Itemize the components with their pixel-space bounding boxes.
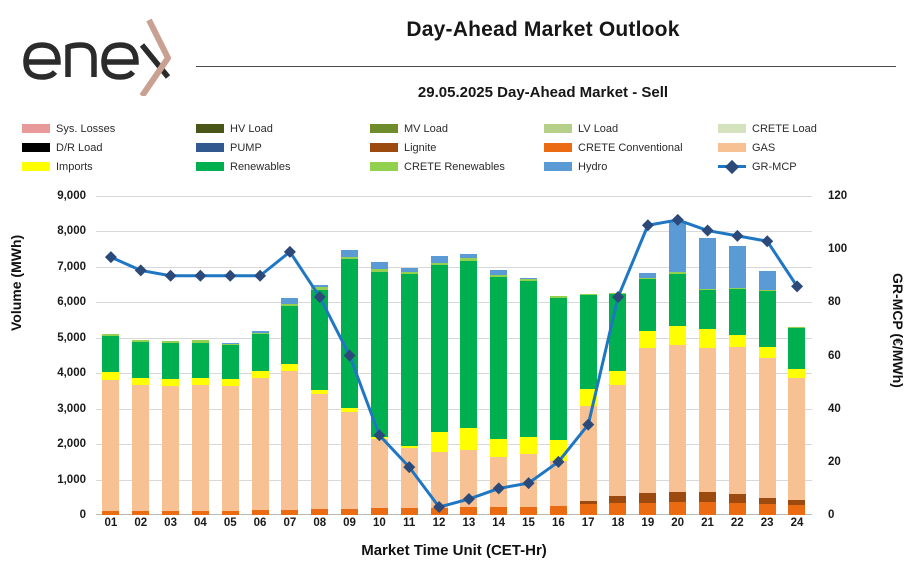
bar-segment (162, 343, 179, 379)
bar-segment (699, 348, 716, 492)
bar-segment (341, 509, 358, 515)
x-axis-label: Market Time Unit (CET-Hr) (96, 542, 812, 559)
stacked-bar (490, 270, 507, 515)
y-tick-left: 1,000 (30, 474, 92, 486)
bar-segment (490, 457, 507, 507)
bar-segment (699, 502, 716, 515)
bar-segment (669, 502, 686, 515)
bar-segment (431, 265, 448, 432)
bar-column-20[interactable] (663, 196, 693, 515)
chart-legend: Sys. LossesHV LoadMV LoadLV LoadCRETE Lo… (22, 119, 892, 177)
legend-swatch-dr_load (22, 143, 50, 152)
bar-segment (669, 492, 686, 502)
stacked-bar (311, 285, 328, 515)
stacked-bar (788, 327, 805, 515)
y-axis-label-left: Volume (MWh) (6, 198, 26, 368)
bar-column-07[interactable] (275, 196, 305, 515)
bar-column-01[interactable] (96, 196, 126, 515)
y-tick-left: 8,000 (30, 225, 92, 237)
legend-label-pump: PUMP (230, 142, 262, 154)
bar-segment (788, 328, 805, 369)
legend-label-hydro: Hydro (578, 161, 607, 173)
y-tick-left: 0 (30, 509, 92, 521)
legend-item-crete_load[interactable]: CRETE Load (718, 123, 892, 135)
bar-segment (759, 347, 776, 358)
bar-segment (222, 511, 239, 515)
x-tick-08: 08 (305, 517, 335, 537)
y-axis-label-right: GR-MCP (€/MWh) (888, 240, 908, 420)
legend-item-gas[interactable]: GAS (718, 142, 892, 154)
bar-segment (699, 238, 716, 289)
x-tick-20: 20 (663, 517, 693, 537)
legend-label-mv_load: MV Load (404, 123, 448, 135)
x-tick-18: 18 (603, 517, 633, 537)
legend-label-renewables: Renewables (230, 161, 291, 173)
bar-segment (252, 378, 269, 510)
legend-label-lv_load: LV Load (578, 123, 618, 135)
bar-segment (431, 432, 448, 452)
legend-label-sys_losses: Sys. Losses (56, 123, 115, 135)
legend-swatch-lignite (370, 143, 398, 152)
bar-column-11[interactable] (394, 196, 424, 515)
y-tick-left: 4,000 (30, 367, 92, 379)
bar-segment (669, 222, 686, 272)
y-tick-left: 9,000 (30, 190, 92, 202)
bar-segment (341, 412, 358, 508)
legend-swatch-lv_load (544, 124, 572, 133)
legend-label-crete_load: CRETE Load (752, 123, 817, 135)
bar-column-16[interactable] (543, 196, 573, 515)
stacked-bar (102, 334, 119, 515)
bar-segment (550, 506, 567, 515)
stacked-bar (669, 222, 686, 515)
y-tick-left: 6,000 (30, 296, 92, 308)
legend-item-gr_mcp[interactable]: GR-MCP (718, 161, 892, 173)
legend-swatch-gas (718, 143, 746, 152)
stacked-bar (580, 294, 597, 515)
bar-column-04[interactable] (185, 196, 215, 515)
legend-label-dr_load: D/R Load (56, 142, 102, 154)
bar-segment (759, 291, 776, 347)
legend-label-crete_conventional: CRETE Conventional (578, 142, 683, 154)
bar-segment (281, 364, 298, 371)
bar-segment (162, 511, 179, 515)
bar-segment (639, 331, 656, 348)
stacked-bar (550, 296, 567, 515)
bar-column-21[interactable] (693, 196, 723, 515)
x-tick-11: 11 (394, 517, 424, 537)
bar-segment (520, 454, 537, 506)
legend-item-renewables[interactable]: Renewables (196, 161, 370, 173)
x-tick-19: 19 (633, 517, 663, 537)
legend-label-hv_load: HV Load (230, 123, 273, 135)
title-divider (196, 66, 896, 67)
bar-segment (759, 504, 776, 515)
legend-swatch-renewables (196, 162, 224, 171)
bar-segment (401, 274, 418, 446)
legend-marker-icon-gr_mcp (718, 161, 746, 172)
bar-segment (281, 510, 298, 515)
x-tick-02: 02 (126, 517, 156, 537)
bar-segment (729, 246, 746, 287)
bar-column-06[interactable] (245, 196, 275, 515)
bar-segment (252, 334, 269, 371)
bar-column-18[interactable] (603, 196, 633, 515)
legend-label-gr_mcp: GR-MCP (752, 161, 797, 173)
stacked-bar (520, 278, 537, 515)
x-tick-04: 04 (185, 517, 215, 537)
y-axis-left: 01,0002,0003,0004,0005,0006,0007,0008,00… (30, 178, 92, 526)
bar-segment (669, 274, 686, 326)
y-tick-left: 5,000 (30, 332, 92, 344)
y-tick-left: 3,000 (30, 403, 92, 415)
legend-swatch-pump (196, 143, 224, 152)
bar-segment (222, 345, 239, 379)
bar-segment (609, 294, 626, 371)
legend-item-sys_losses[interactable]: Sys. Losses (22, 123, 196, 135)
page-title: Day-Ahead Market Outlook (190, 18, 896, 42)
legend-item-crete_renewables[interactable]: CRETE Renewables (370, 161, 544, 173)
bar-segment (759, 271, 776, 290)
x-tick-12: 12 (424, 517, 454, 537)
bar-segment (460, 450, 477, 507)
bar-segment (699, 290, 716, 329)
bar-segment (669, 326, 686, 345)
bar-segment (639, 503, 656, 515)
x-tick-13: 13 (454, 517, 484, 537)
legend-item-imports[interactable]: Imports (22, 161, 196, 173)
bar-segment (192, 511, 209, 515)
x-axis-ticks: 0102030405060708091011121314151617181920… (96, 517, 812, 537)
bar-segment (490, 439, 507, 457)
stacked-bar (341, 250, 358, 515)
legend-swatch-crete_renewables (370, 162, 398, 171)
x-tick-23: 23 (752, 517, 782, 537)
x-tick-21: 21 (693, 517, 723, 537)
bar-segment (639, 279, 656, 331)
x-tick-10: 10 (364, 517, 394, 537)
legend-item-mv_load[interactable]: MV Load (370, 123, 544, 135)
legend-swatch-hydro (544, 162, 572, 171)
bar-segment (580, 406, 597, 501)
x-tick-06: 06 (245, 517, 275, 537)
bar-segment (102, 511, 119, 515)
stacked-bar (371, 262, 388, 515)
y-tick-right: 40 (822, 403, 862, 415)
bar-segment (699, 492, 716, 502)
bar-segment (729, 289, 746, 334)
bar-column-14[interactable] (484, 196, 514, 515)
bar-segment (699, 329, 716, 348)
bar-segment (132, 385, 149, 511)
stacked-bar (162, 341, 179, 515)
bar-segment (788, 369, 805, 378)
x-tick-16: 16 (543, 517, 573, 537)
bar-segment (341, 259, 358, 408)
bar-segment (609, 503, 626, 515)
stacked-bar (759, 271, 776, 515)
x-tick-14: 14 (484, 517, 514, 537)
stacked-bar (401, 268, 418, 515)
bar-segment (788, 378, 805, 500)
bar-segment (729, 494, 746, 503)
bar-segment (520, 437, 537, 454)
bar-segment (281, 371, 298, 510)
bar-segment (371, 272, 388, 437)
bar-column-13[interactable] (454, 196, 484, 515)
bar-segment (639, 493, 656, 502)
bar-segment (341, 250, 358, 257)
stacked-bar (252, 331, 269, 515)
bar-segment (550, 440, 567, 461)
bar-segment (729, 503, 746, 515)
bar-segment (311, 290, 328, 390)
legend-swatch-crete_load (718, 124, 746, 133)
bar-column-03[interactable] (156, 196, 186, 515)
legend-label-gas: GAS (752, 142, 775, 154)
bar-segment (192, 343, 209, 378)
bar-segment (162, 386, 179, 511)
stacked-bar (729, 246, 746, 515)
bar-segment (460, 507, 477, 515)
stacked-bar (222, 343, 239, 515)
y-tick-right: 80 (822, 296, 862, 308)
legend-label-imports: Imports (56, 161, 93, 173)
bar-column-23[interactable] (752, 196, 782, 515)
bar-segment (550, 298, 567, 440)
bar-segment (788, 505, 805, 515)
bar-segment (580, 295, 597, 389)
bar-column-22[interactable] (722, 196, 752, 515)
legend-swatch-sys_losses (22, 124, 50, 133)
stacked-bar (192, 340, 209, 515)
stacked-bar (281, 298, 298, 515)
title-block: Day-Ahead Market Outlook 29.05.2025 Day-… (190, 14, 896, 106)
bar-column-08[interactable] (305, 196, 335, 515)
stacked-bar (460, 254, 477, 515)
y-tick-left: 2,000 (30, 438, 92, 450)
legend-item-pump[interactable]: PUMP (196, 142, 370, 154)
bar-segment (550, 461, 567, 506)
y-axis-right: 020406080100120 (822, 178, 862, 526)
legend-item-lv_load[interactable]: LV Load (544, 123, 718, 135)
legend-swatch-imports (22, 162, 50, 171)
stacked-bar (132, 340, 149, 515)
bar-column-05[interactable] (215, 196, 245, 515)
bar-column-02[interactable] (126, 196, 156, 515)
stacked-bar (639, 273, 656, 515)
bar-segment (102, 372, 119, 380)
bar-segment (520, 281, 537, 437)
bar-segment (252, 510, 269, 515)
stacked-bar (699, 238, 716, 515)
bar-column-17[interactable] (573, 196, 603, 515)
bar-segment (132, 378, 149, 385)
legend-item-crete_conventional[interactable]: CRETE Conventional (544, 142, 718, 154)
bar-segment (132, 511, 149, 515)
stacked-bar (609, 293, 626, 515)
bar-segment (580, 504, 597, 515)
y-tick-right: 20 (822, 456, 862, 468)
legend-swatch-hv_load (196, 124, 224, 133)
bar-segment (639, 348, 656, 494)
x-tick-24: 24 (782, 517, 812, 537)
stacked-bars (96, 196, 812, 515)
bar-segment (490, 277, 507, 439)
bar-segment (401, 448, 418, 508)
bar-segment (460, 261, 477, 429)
bar-segment (371, 439, 388, 508)
bar-segment (759, 358, 776, 498)
bar-segment (132, 342, 149, 378)
bar-segment (431, 452, 448, 507)
bar-segment (371, 262, 388, 269)
bar-column-10[interactable] (364, 196, 394, 515)
bar-column-19[interactable] (633, 196, 663, 515)
bar-segment (490, 507, 507, 515)
legend-label-crete_renewables: CRETE Renewables (404, 161, 505, 173)
legend-item-hv_load[interactable]: HV Load (196, 123, 370, 135)
y-tick-right: 120 (822, 190, 862, 202)
bar-segment (609, 371, 626, 384)
bar-segment (102, 336, 119, 373)
chart-header: Day-Ahead Market Outlook 29.05.2025 Day-… (0, 0, 912, 112)
bar-segment (729, 347, 746, 495)
x-tick-15: 15 (514, 517, 544, 537)
bar-column-24[interactable] (782, 196, 812, 515)
x-tick-22: 22 (722, 517, 752, 537)
bar-segment (371, 508, 388, 515)
legend-item-dr_load[interactable]: D/R Load (22, 142, 196, 154)
bar-segment (609, 385, 626, 496)
bar-segment (311, 394, 328, 509)
bar-segment (580, 389, 597, 406)
y-tick-right: 60 (822, 350, 862, 362)
x-tick-09: 09 (335, 517, 365, 537)
bar-segment (162, 379, 179, 386)
bar-column-12[interactable] (424, 196, 454, 515)
bar-segment (192, 385, 209, 512)
bar-segment (729, 335, 746, 347)
page-subtitle: 29.05.2025 Day-Ahead Market - Sell (190, 84, 896, 101)
legend-swatch-crete_conventional (544, 143, 572, 152)
bar-segment (520, 507, 537, 516)
bar-segment (669, 345, 686, 491)
bar-segment (222, 386, 239, 511)
y-tick-right: 100 (822, 243, 862, 255)
bar-segment (431, 508, 448, 515)
legend-item-lignite[interactable]: Lignite (370, 142, 544, 154)
bar-segment (252, 371, 269, 378)
bar-segment (609, 496, 626, 503)
legend-label-lignite: Lignite (404, 142, 436, 154)
x-tick-03: 03 (156, 517, 186, 537)
x-tick-17: 17 (573, 517, 603, 537)
y-tick-left: 7,000 (30, 261, 92, 273)
bar-column-15[interactable] (514, 196, 544, 515)
bar-segment (102, 380, 119, 511)
x-tick-07: 07 (275, 517, 305, 537)
bar-column-09[interactable] (335, 196, 365, 515)
bar-segment (401, 508, 418, 515)
y-tick-right: 0 (822, 509, 862, 521)
stacked-bar (431, 256, 448, 515)
bar-segment (281, 306, 298, 364)
bar-segment (460, 428, 477, 450)
enex-logo (18, 18, 188, 96)
x-tick-05: 05 (215, 517, 245, 537)
legend-swatch-mv_load (370, 124, 398, 133)
legend-item-hydro[interactable]: Hydro (544, 161, 718, 173)
x-tick-01: 01 (96, 517, 126, 537)
bar-segment (311, 509, 328, 515)
